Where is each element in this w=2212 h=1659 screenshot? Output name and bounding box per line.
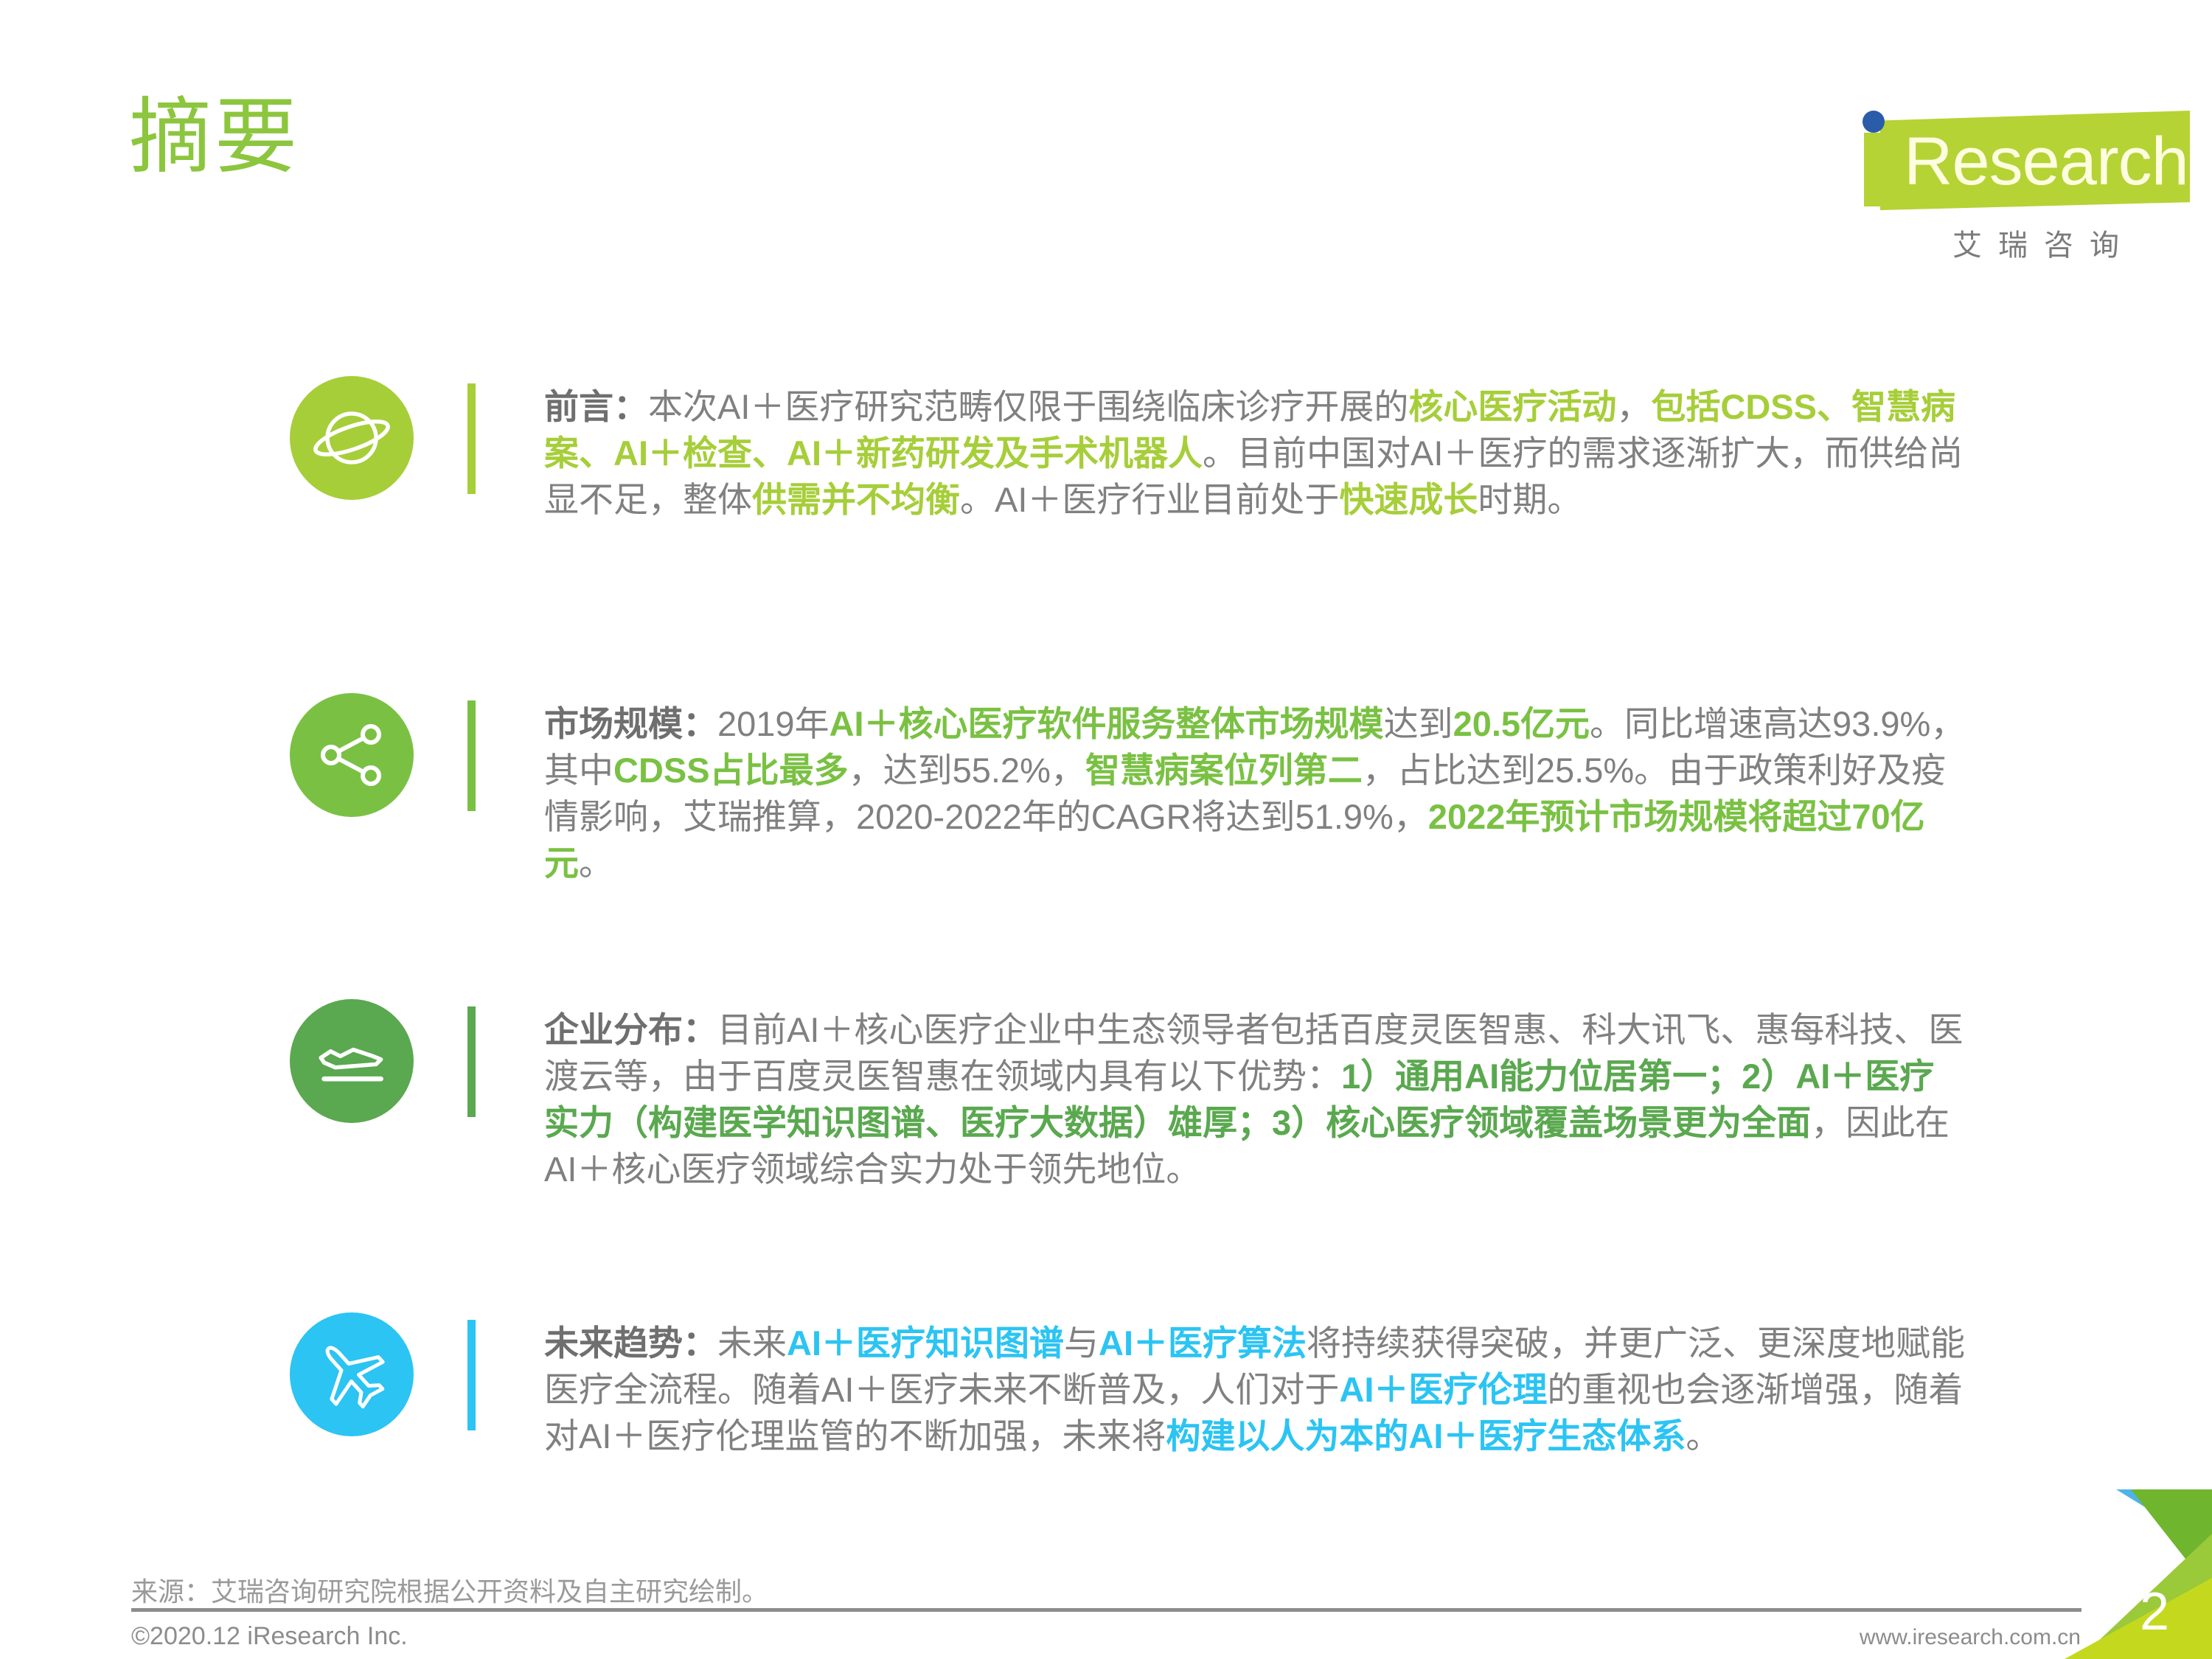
body-text: 。 bbox=[1686, 1416, 1720, 1455]
highlighted-phrase: AI＋核心医疗软件服务整体市场规模 bbox=[829, 704, 1384, 743]
logo-i-dot bbox=[1863, 111, 1885, 133]
body-text: 。 bbox=[579, 844, 613, 883]
copyright-text: ©2020.12 iResearch Inc. bbox=[131, 1622, 408, 1651]
plane-landing-icon-badge bbox=[290, 999, 414, 1123]
highlighted-phrase: 快速成长 bbox=[1339, 480, 1478, 519]
summary-text: 前言：本次AI＋医疗研究范畴仅限于围绕临床诊疗开展的核心医疗活动，包括CDSS、… bbox=[544, 383, 1967, 523]
plane-landing-icon bbox=[311, 1020, 392, 1102]
logo-i-stem bbox=[1864, 133, 1883, 206]
highlighted-phrase: 20.5亿元 bbox=[1453, 704, 1590, 743]
page-number: 2 bbox=[2140, 1585, 2169, 1638]
planet-icon-badge bbox=[290, 376, 414, 500]
body-text: 时期。 bbox=[1478, 480, 1582, 519]
highlighted-phrase: 核心医疗活动 bbox=[1408, 387, 1616, 426]
highlighted-phrase: 供需并不均衡 bbox=[752, 480, 960, 519]
body-text: ， bbox=[1616, 387, 1651, 426]
logo-wordmark: Research bbox=[1904, 121, 2188, 202]
body-text: 与 bbox=[1064, 1324, 1099, 1363]
body-text: 。AI＋医疗行业目前处于 bbox=[960, 480, 1339, 519]
logo-subtitle: 艾瑞咨询 bbox=[1877, 221, 2194, 264]
body-text: ，达到55.2%， bbox=[849, 751, 1085, 790]
planet-icon bbox=[311, 397, 392, 479]
accent-bar bbox=[467, 1320, 476, 1430]
airplane-icon bbox=[310, 1333, 393, 1416]
highlighted-phrase: AI＋医疗伦理 bbox=[1339, 1370, 1547, 1409]
body-text: 本次AI＋医疗研究范畴仅限于围绕临床诊疗开展的 bbox=[648, 387, 1408, 426]
block-label: 前言： bbox=[544, 387, 648, 426]
corner-decoration bbox=[2020, 1489, 2212, 1659]
block-label: 企业分布： bbox=[544, 1010, 717, 1049]
body-text: 达到 bbox=[1384, 704, 1453, 743]
highlighted-phrase: AI＋医疗算法 bbox=[1099, 1324, 1307, 1363]
block-label: 市场规模： bbox=[544, 704, 717, 743]
iresearch-logo: Research 艾瑞咨询 bbox=[1851, 111, 2190, 258]
highlighted-phrase: 智慧病案位列第二 bbox=[1085, 751, 1363, 790]
share-icon bbox=[315, 718, 389, 792]
footer-divider bbox=[131, 1608, 2081, 1612]
summary-text: 市场规模：2019年AI＋核心医疗软件服务整体市场规模达到20.5亿元。同比增速… bbox=[544, 700, 1967, 886]
page-title: 摘要 bbox=[129, 96, 300, 178]
body-text: 2019年 bbox=[717, 704, 829, 743]
summary-text: 企业分布：目前AI＋核心医疗企业中生态领导者包括百度灵医智惠、科大讯飞、惠每科技… bbox=[544, 1006, 1967, 1192]
accent-bar bbox=[467, 700, 476, 811]
summary-text: 未来趋势：未来AI＋医疗知识图谱与AI＋医疗算法将持续获得突破，并更广泛、更深度… bbox=[544, 1320, 1967, 1459]
source-note: 来源：艾瑞咨询研究院根据公开资料及自主研究绘制。 bbox=[131, 1571, 768, 1609]
accent-bar bbox=[467, 383, 476, 494]
block-label: 未来趋势： bbox=[544, 1324, 717, 1363]
share-icon-badge bbox=[290, 693, 414, 817]
highlighted-phrase: AI＋医疗知识图谱 bbox=[787, 1324, 1064, 1363]
highlighted-phrase: CDSS占比最多 bbox=[613, 751, 849, 790]
airplane-icon-badge bbox=[290, 1312, 414, 1436]
body-text: 未来 bbox=[717, 1324, 787, 1363]
accent-bar bbox=[467, 1006, 476, 1117]
highlighted-phrase: 构建以人为本的AI＋医疗生态体系 bbox=[1166, 1416, 1686, 1455]
